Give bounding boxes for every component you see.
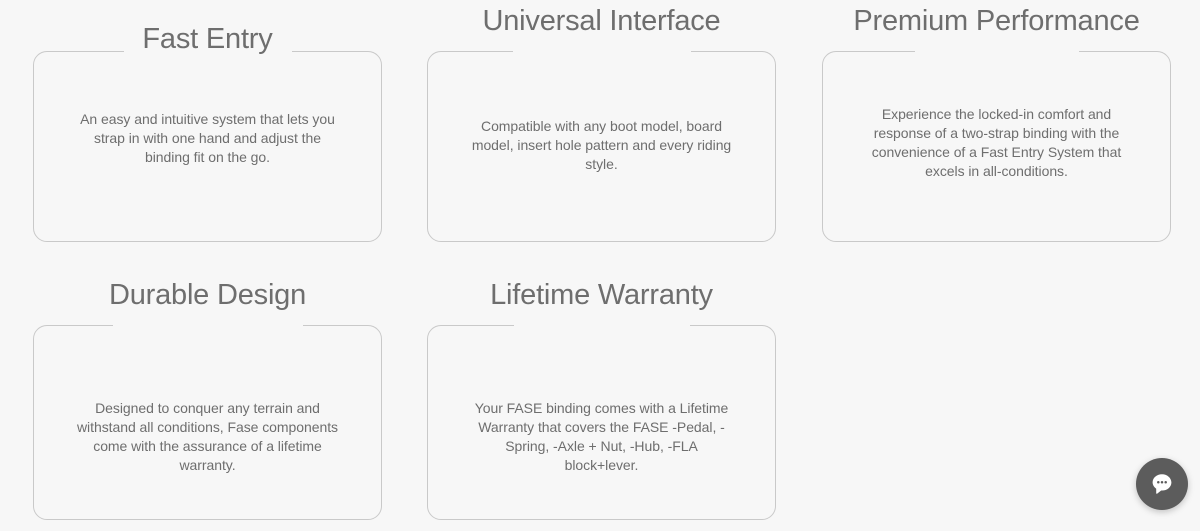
card-title: Premium Performance (847, 2, 1147, 40)
feature-card-grid: Fast Entry An easy and intuitive system … (0, 0, 1200, 531)
card-title: Fast Entry (58, 20, 358, 58)
card-body: Your FASE binding comes with a Lifetime … (468, 399, 736, 475)
card-title: Durable Design (58, 276, 358, 314)
card-body: Compatible with any boot model, board mo… (468, 117, 736, 174)
title-notch (915, 51, 1079, 54)
card-title: Universal Interface (452, 2, 752, 40)
title-notch (514, 325, 690, 328)
card-body: Designed to conquer any terrain and with… (74, 399, 342, 475)
title-notch (513, 51, 691, 54)
feature-card-universal-interface: Universal Interface Compatible with any … (427, 51, 776, 242)
feature-card-fast-entry: Fast Entry An easy and intuitive system … (33, 51, 382, 242)
card-title: Lifetime Warranty (452, 276, 752, 314)
title-notch (113, 325, 303, 328)
feature-card-lifetime-warranty: Lifetime Warranty Your FASE binding come… (427, 325, 776, 520)
chat-bubble-icon (1148, 470, 1176, 498)
feature-card-premium-performance: Premium Performance Experience the locke… (822, 51, 1171, 242)
chat-launcher-button[interactable] (1136, 458, 1188, 510)
card-body: Experience the locked-in comfort and res… (863, 105, 1131, 181)
feature-card-durable-design: Durable Design Designed to conquer any t… (33, 325, 382, 520)
card-body: An easy and intuitive system that lets y… (74, 110, 342, 167)
